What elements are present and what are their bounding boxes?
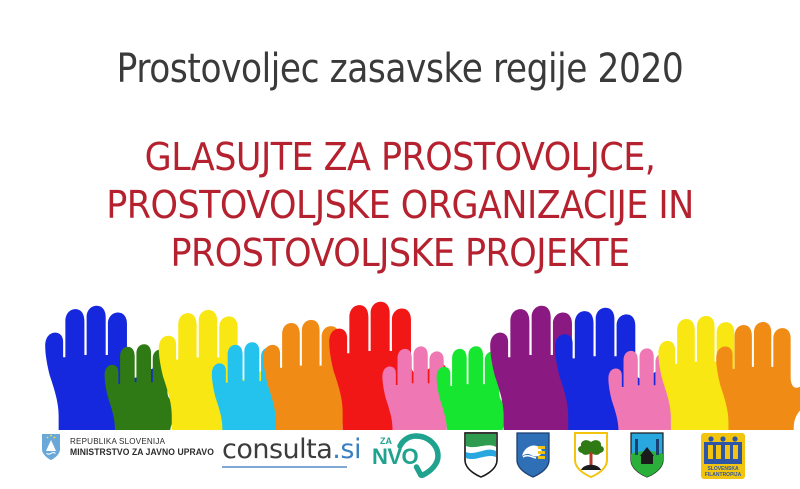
headline-line-1: GLASUJTE ZA PROSTOVOLJCE, xyxy=(32,133,768,181)
headline-line-3: PROSTOVOLJSKE PROJEKTE xyxy=(32,229,768,277)
ministry-line-2: MINISTRSTVO ZA JAVNO UPRAVO xyxy=(70,447,214,458)
coat-of-arms-litija xyxy=(628,430,666,485)
consulta-name: consulta xyxy=(222,434,332,465)
consulta-tld: .si xyxy=(332,434,361,465)
page-title: Prostovoljec zasavske regije 2020 xyxy=(56,46,744,92)
logo-ministry-public-administration: REPUBLIKA SLOVENIJA MINISTRSTVO ZA JAVNO… xyxy=(40,432,222,462)
nvo-main-text: NVO xyxy=(372,444,419,469)
coat-of-arms-zagorje xyxy=(462,430,500,485)
coat-of-arms-hrastnik xyxy=(572,430,610,485)
philanthropy-line-2: FILANTROPIJA xyxy=(705,472,742,478)
logo-za-nvo[interactable]: ZA NVO xyxy=(368,430,444,480)
hands-svg xyxy=(0,300,800,430)
headline-line-2: PROSTOVOLJSKE ORGANIZACIJE IN xyxy=(32,181,768,229)
ministry-line-1: REPUBLIKA SLOVENIJA xyxy=(70,436,214,447)
slovenia-coat-of-arms-icon xyxy=(40,432,62,462)
philanthropy-icon: SLOVENSKA FILANTROPIJA xyxy=(700,432,746,480)
headline: GLASUJTE ZA PROSTOVOLJCE, PROSTOVOLJSKE … xyxy=(0,133,800,277)
consulta-wordmark: consulta.si xyxy=(222,436,361,463)
footer-logo-strip: REPUBLIKA SLOVENIJA MINISTRSTVO ZA JAVNO… xyxy=(0,428,800,486)
poster-root: Prostovoljec zasavske regije 2020 GLASUJ… xyxy=(0,0,800,489)
coat-of-arms-trbovlje xyxy=(514,430,552,485)
za-nvo-icon: ZA NVO xyxy=(368,430,444,480)
logo-consulta-si[interactable]: consulta.si xyxy=(222,436,361,468)
consulta-underline xyxy=(222,466,347,468)
logo-slovenska-filantropija: SLOVENSKA FILANTROPIJA xyxy=(700,432,746,480)
raised-hands-illustration xyxy=(0,300,800,430)
ministry-text: REPUBLIKA SLOVENIJA MINISTRSTVO ZA JAVNO… xyxy=(70,436,222,458)
